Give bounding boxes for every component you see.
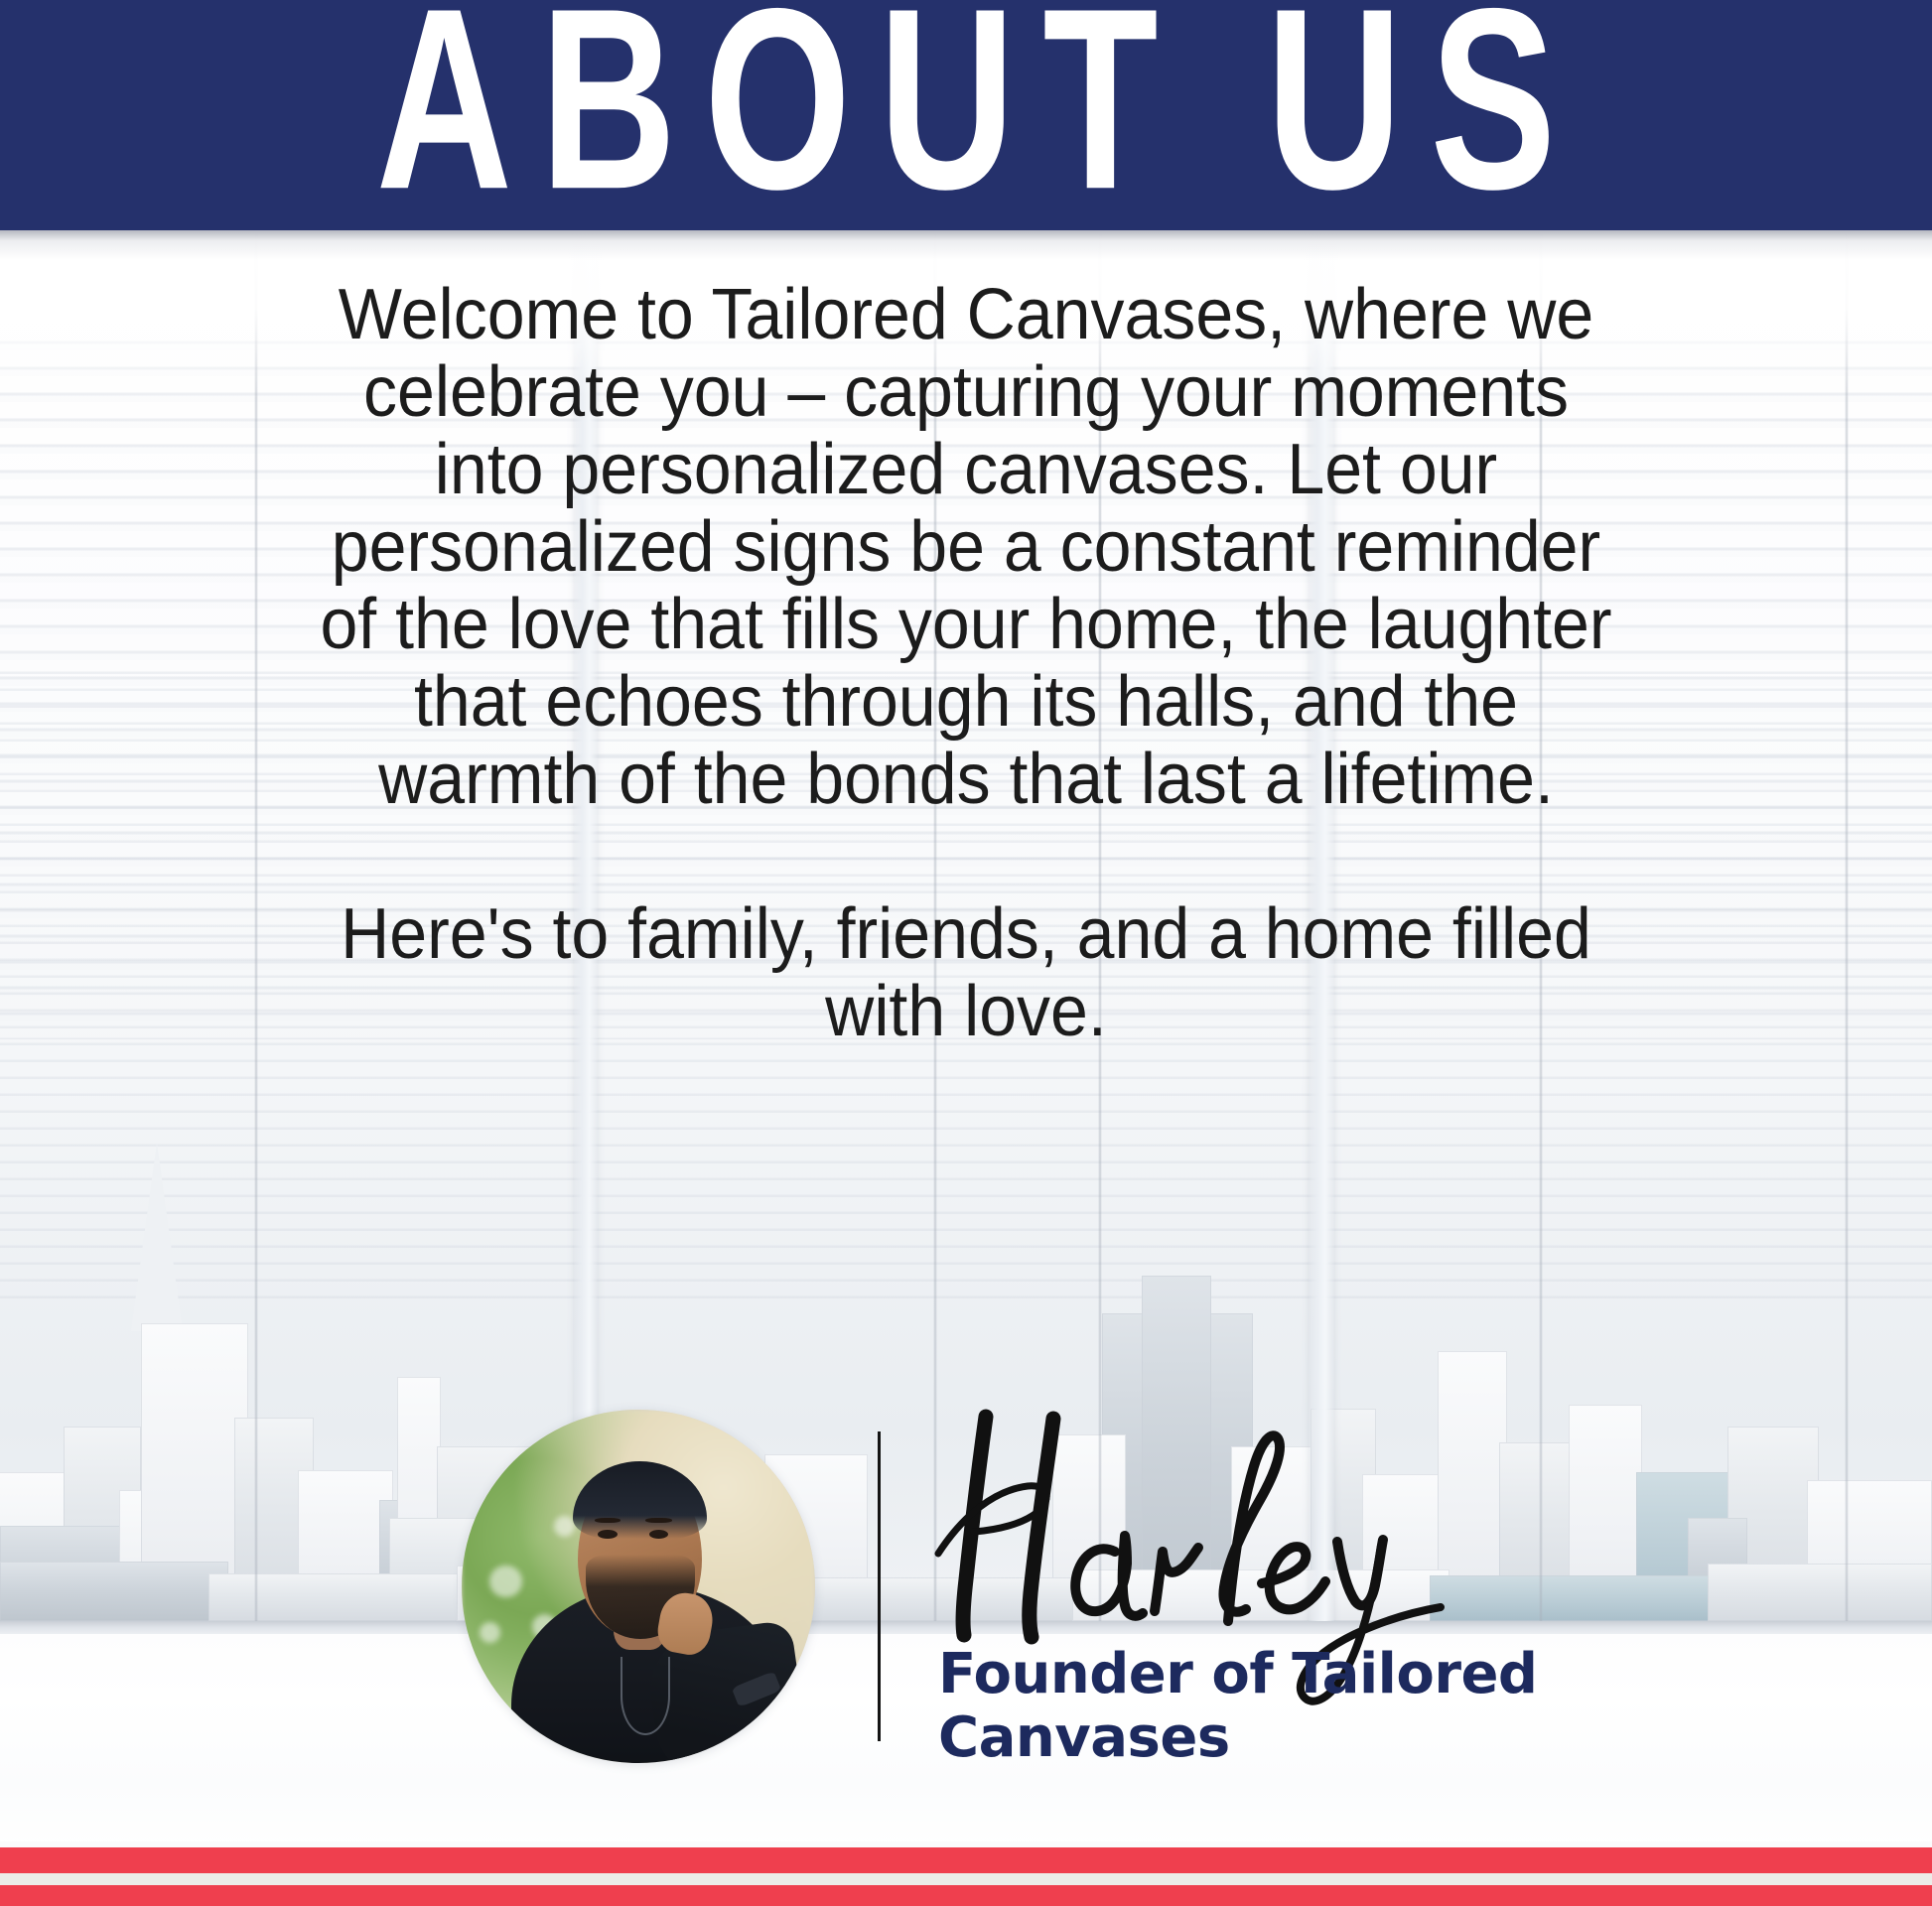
accent-stripe-gap bbox=[0, 1873, 1932, 1885]
header-drop-shadow bbox=[0, 230, 1932, 260]
body-line: into personalized canvases. Let our bbox=[54, 431, 1879, 508]
avatar bbox=[462, 1410, 815, 1763]
header-band: ABOUT US bbox=[0, 0, 1932, 230]
body-line: personalized signs be a constant reminde… bbox=[54, 508, 1879, 586]
body-line: Welcome to Tailored Canvases, where we bbox=[54, 276, 1879, 353]
body-line: celebrate you – capturing your moments bbox=[54, 353, 1879, 431]
body-line: that echoes through its halls, and the bbox=[54, 663, 1879, 741]
body-line: warmth of the bonds that last a lifetime… bbox=[54, 741, 1879, 818]
about-body-text: Welcome to Tailored Canvases, where we c… bbox=[54, 276, 1879, 1050]
body-line: with love. bbox=[54, 973, 1879, 1050]
founder-role: Founder of Tailored Canvases bbox=[938, 1643, 1693, 1770]
page-title: ABOUT US bbox=[174, 0, 1758, 229]
body-line: of the love that fills your home, the la… bbox=[54, 586, 1879, 663]
about-us-poster: ABOUT US Welcome to Tailored Canvases, w… bbox=[0, 0, 1932, 1906]
founder-role-line-1: Founder of Tailored bbox=[938, 1643, 1693, 1706]
founder-role-line-2: Canvases bbox=[938, 1706, 1693, 1770]
body-line: Here's to family, friends, and a home fi… bbox=[54, 895, 1879, 973]
accent-stripe-top bbox=[0, 1847, 1932, 1873]
accent-stripe-bottom bbox=[0, 1885, 1932, 1906]
avatar-portrait-illustration bbox=[462, 1410, 815, 1763]
paragraph-spacer bbox=[54, 818, 1879, 895]
